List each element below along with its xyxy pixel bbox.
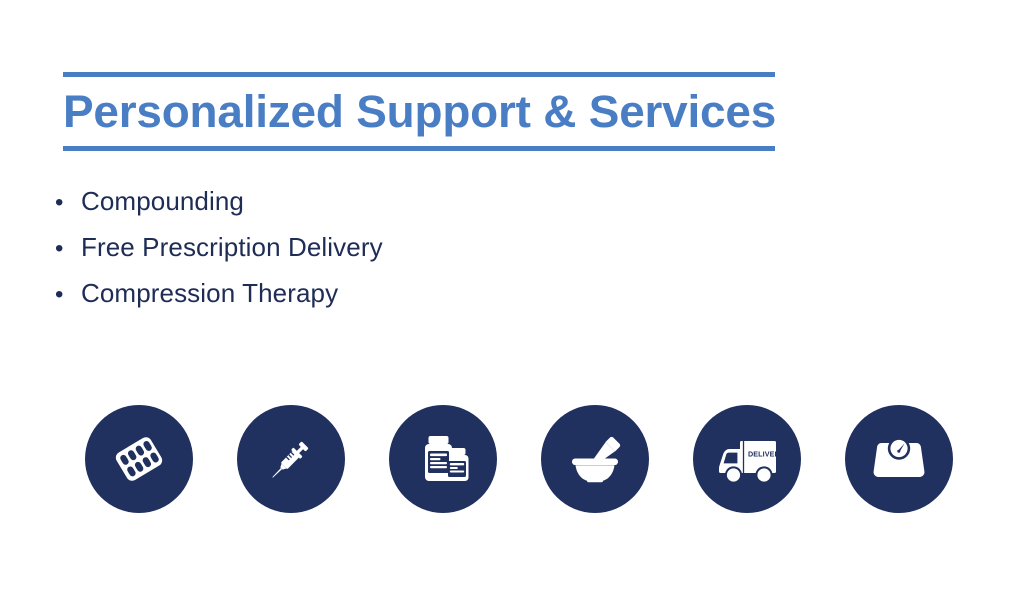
delivery-truck-text: DELIVERY — [748, 450, 785, 459]
icon-badge-syringe — [237, 405, 345, 513]
mortar-and-pestle-icon — [559, 423, 631, 495]
list-item: • Free Prescription Delivery — [55, 224, 383, 270]
list-item: • Compounding — [55, 178, 383, 224]
icon-badge-mortar-and-pestle — [541, 405, 649, 513]
syringe-icon — [255, 423, 327, 495]
icon-badge-pill-blister-pack — [85, 405, 193, 513]
title-block: Personalized Support & Services — [63, 72, 775, 151]
services-bullet-list: • Compounding • Free Prescription Delive… — [55, 178, 383, 316]
pill-blister-pack-icon — [103, 423, 175, 495]
bullet-marker-icon: • — [55, 180, 81, 226]
delivery-truck-icon: DELIVERY — [707, 419, 787, 499]
icon-badge-delivery-truck: DELIVERY — [693, 405, 801, 513]
icon-badge-weight-scale — [845, 405, 953, 513]
list-item-label: Compression Therapy — [81, 270, 338, 316]
icon-badge-pill-bottles — [389, 405, 497, 513]
list-item-label: Compounding — [81, 178, 244, 224]
service-icon-row: DELIVERY — [85, 405, 953, 513]
bullet-marker-icon: • — [55, 272, 81, 318]
list-item: • Compression Therapy — [55, 270, 383, 316]
pill-bottles-icon — [407, 423, 479, 495]
list-item-label: Free Prescription Delivery — [81, 224, 383, 270]
title-rule-bottom — [63, 146, 775, 151]
slide-canvas: Personalized Support & Services • Compou… — [0, 0, 1025, 590]
bullet-marker-icon: • — [55, 226, 81, 272]
page-title: Personalized Support & Services — [63, 77, 789, 146]
weight-scale-icon — [863, 423, 935, 495]
